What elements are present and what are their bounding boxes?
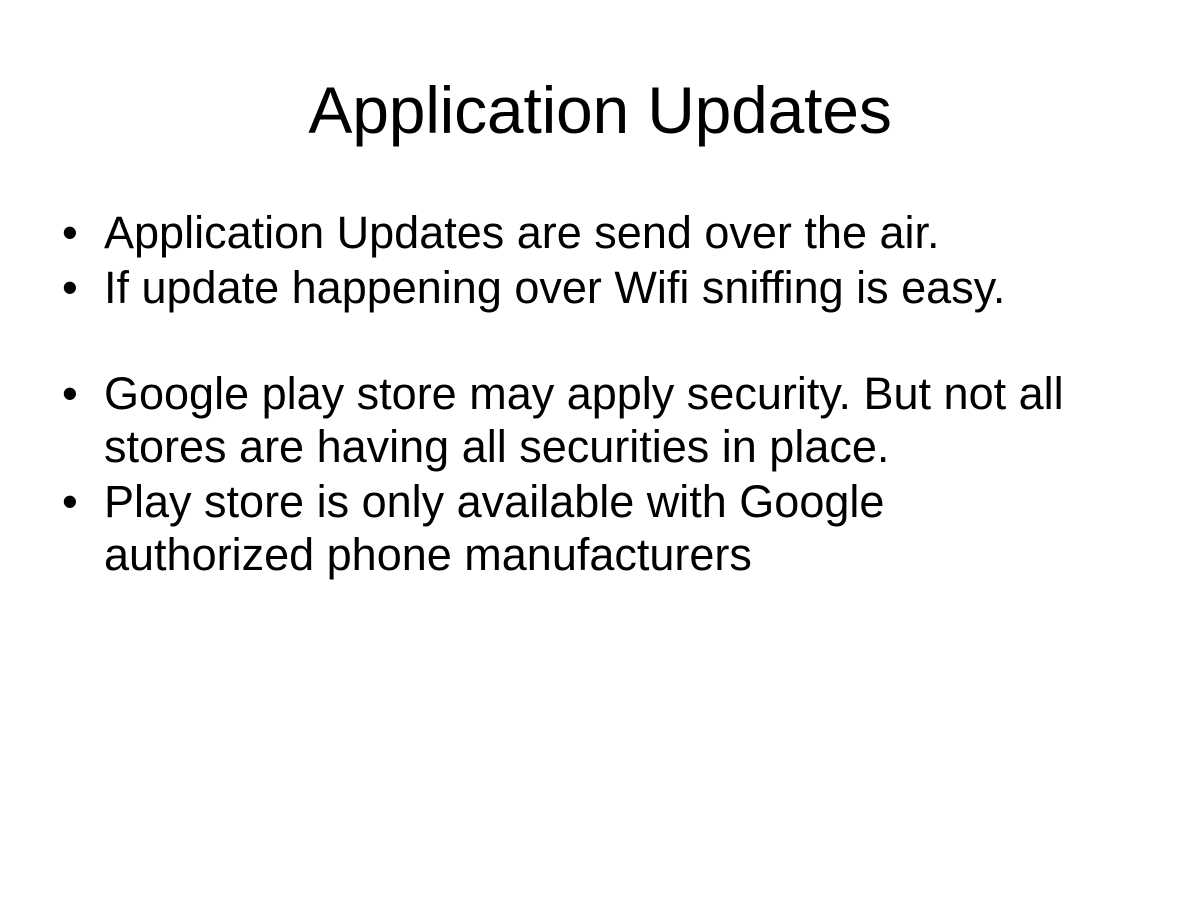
list-item: • Application Updates are send over the … (58, 206, 1104, 259)
blank-line-spacer (58, 314, 1104, 367)
list-item: • If update happening over Wifi sniffing… (58, 261, 1104, 314)
list-item-text: Play store is only available with Google… (104, 475, 1104, 581)
list-item-text: Application Updates are send over the ai… (104, 206, 1104, 259)
slide-content-body: • Application Updates are send over the … (58, 206, 1104, 583)
bullet-point-icon: • (62, 475, 92, 528)
list-item: • Google play store may apply security. … (58, 367, 1104, 473)
presentation-slide: Application Updates • Application Update… (0, 0, 1200, 900)
page-title: Application Updates (60, 74, 1140, 146)
bullet-point-icon: • (62, 261, 92, 314)
bullet-list: • Application Updates are send over the … (58, 206, 1104, 581)
list-item-text: If update happening over Wifi sniffing i… (104, 261, 1104, 314)
list-item-text: Google play store may apply security. Bu… (104, 367, 1104, 473)
list-item: • Play store is only available with Goog… (58, 475, 1104, 581)
bullet-point-icon: • (62, 367, 92, 420)
bullet-point-icon: • (62, 206, 92, 259)
